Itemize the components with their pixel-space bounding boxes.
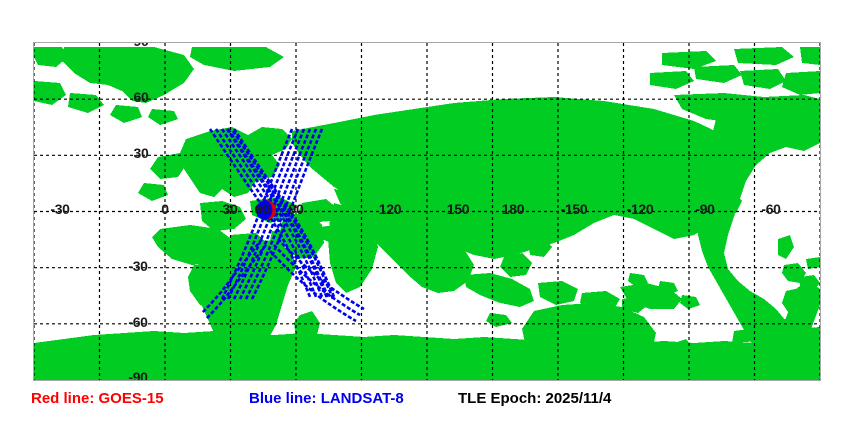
lon-tick-neg30: -30 <box>50 202 69 216</box>
lat-tick-neg30: -30 <box>128 259 147 273</box>
lon-tick-neg150: -150 <box>561 202 588 216</box>
legend-epoch-value: 2025/11/4 <box>546 390 612 407</box>
lon-tick-90: 90 <box>289 202 304 216</box>
lon-tick-120: 120 <box>379 202 401 216</box>
satellite-ground-track-map: 90 60 30 -30 -60 -90 -30 0 30 60 90 120 … <box>0 0 850 425</box>
legend-blue-value: LANDSAT-8 <box>321 390 404 407</box>
legend-epoch-label: TLE Epoch: <box>458 390 546 407</box>
lon-tick-0: 0 <box>161 202 169 216</box>
lon-tick-150: 150 <box>447 202 469 216</box>
legend-red-value: GOES-15 <box>99 390 164 407</box>
lat-tick-30: 30 <box>134 146 149 160</box>
lon-tick-neg90: -90 <box>695 202 714 216</box>
lon-tick-neg120: -120 <box>627 202 654 216</box>
lon-tick-60: 60 <box>255 202 270 216</box>
map-frame[interactable]: 90 60 30 -30 -60 -90 -30 0 30 60 90 120 … <box>33 42 821 381</box>
legend-blue-label: Blue line: <box>249 390 321 407</box>
lat-tick-60: 60 <box>134 90 149 104</box>
legend: Red line: GOES-15 Blue line: LANDSAT-8 T… <box>0 388 850 418</box>
legend-red-label: Red line: <box>31 390 99 407</box>
lat-tick-neg90: -90 <box>128 370 147 381</box>
lat-tick-90: 90 <box>134 42 149 48</box>
lon-tick-30: 30 <box>223 202 238 216</box>
legend-tle-epoch: TLE Epoch: 2025/11/4 <box>458 388 611 410</box>
legend-red-line: Red line: GOES-15 <box>31 388 164 410</box>
lat-tick-neg60: -60 <box>128 315 147 329</box>
lon-tick-180: 180 <box>502 202 524 216</box>
lon-tick-neg60: -60 <box>761 202 780 216</box>
legend-blue-line: Blue line: LANDSAT-8 <box>249 388 404 410</box>
